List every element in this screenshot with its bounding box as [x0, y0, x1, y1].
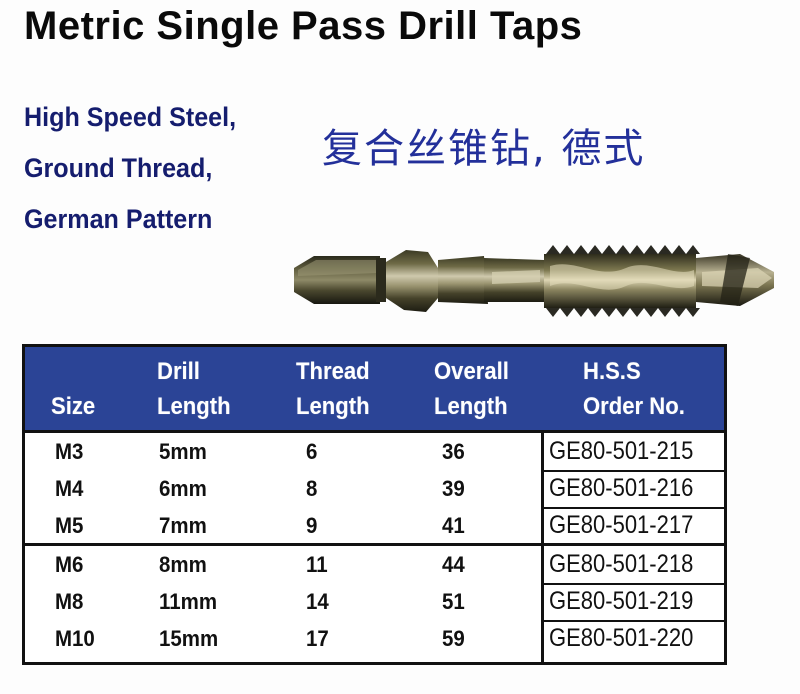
cell-overall-length: 39: [442, 470, 465, 507]
cell-drill-length: 7mm: [159, 507, 207, 544]
product-photo-drill-tap: [288, 228, 780, 332]
cell-size: M5: [55, 507, 83, 544]
specification-table: Drill Thread Overall H.S.S Size Length L…: [22, 344, 727, 665]
cell-size: M4: [55, 470, 83, 507]
subtitle-line-1: High Speed Steel,: [24, 92, 294, 143]
cell-size: M10: [55, 620, 95, 657]
cell-order-no: GE80-501-215: [549, 433, 693, 470]
page-title: Metric Single Pass Drill Taps: [24, 4, 776, 49]
cell-order-no: GE80-501-219: [549, 583, 693, 620]
cell-drill-length: 8mm: [159, 546, 207, 583]
table-row[interactable]: M3 5mm 6 36 GE80-501-215: [25, 433, 724, 470]
header-overall-length-line1: Overall: [434, 357, 509, 387]
table-row[interactable]: M4 6mm 8 39 GE80-501-216: [25, 470, 724, 507]
subtitle-chinese: 复合丝锥钻, 德式: [322, 116, 645, 174]
cell-order-no: GE80-501-217: [549, 507, 693, 544]
table-body: M3 5mm 6 36 GE80-501-215 M4 6mm 8 39 GE8…: [25, 433, 724, 662]
subtitle-line-3: German Pattern: [24, 194, 294, 245]
cell-drill-length: 5mm: [159, 433, 207, 470]
cell-thread-length: 8: [306, 470, 317, 507]
table-header-row: Drill Thread Overall H.S.S Size Length L…: [25, 347, 724, 433]
subtitle-line-2: Ground Thread,: [24, 143, 294, 194]
cell-size: M8: [55, 583, 83, 620]
table-row[interactable]: M10 15mm 17 59 GE80-501-220: [25, 620, 724, 657]
subtitle-english: High Speed Steel, Ground Thread, German …: [24, 92, 294, 245]
cell-thread-length: 11: [306, 546, 328, 583]
header-order-no-line1: H.S.S: [583, 357, 641, 387]
cell-drill-length: 6mm: [159, 470, 207, 507]
table-row[interactable]: M6 8mm 11 44 GE80-501-218: [25, 546, 724, 583]
header-order-no-line2: Order No.: [583, 392, 685, 422]
cell-overall-length: 41: [442, 507, 465, 544]
header-thread-length-line1: Thread: [296, 357, 370, 387]
cell-order-no: GE80-501-220: [549, 620, 693, 657]
table-row[interactable]: M8 11mm 14 51 GE80-501-219: [25, 583, 724, 620]
cell-overall-length: 59: [442, 620, 465, 657]
cell-drill-length: 11mm: [159, 583, 217, 620]
cell-overall-length: 44: [442, 546, 465, 583]
cell-order-no: GE80-501-216: [549, 470, 693, 507]
cell-overall-length: 36: [442, 433, 465, 470]
cell-thread-length: 9: [306, 507, 317, 544]
header-drill-length-line2: Length: [157, 392, 231, 422]
cell-size: M6: [55, 546, 83, 583]
cell-thread-length: 6: [306, 433, 317, 470]
header-drill-length-line1: Drill: [157, 357, 200, 387]
cell-thread-length: 14: [306, 583, 329, 620]
cell-overall-length: 51: [442, 583, 465, 620]
cell-size: M3: [55, 433, 83, 470]
header-size: Size: [51, 392, 95, 422]
cell-thread-length: 17: [306, 620, 329, 657]
header-thread-length-line2: Length: [296, 392, 370, 422]
table-row[interactable]: M5 7mm 9 41 GE80-501-217: [25, 507, 724, 544]
cell-order-no: GE80-501-218: [549, 546, 693, 583]
header-overall-length-line2: Length: [434, 392, 508, 422]
cell-drill-length: 15mm: [159, 620, 218, 657]
